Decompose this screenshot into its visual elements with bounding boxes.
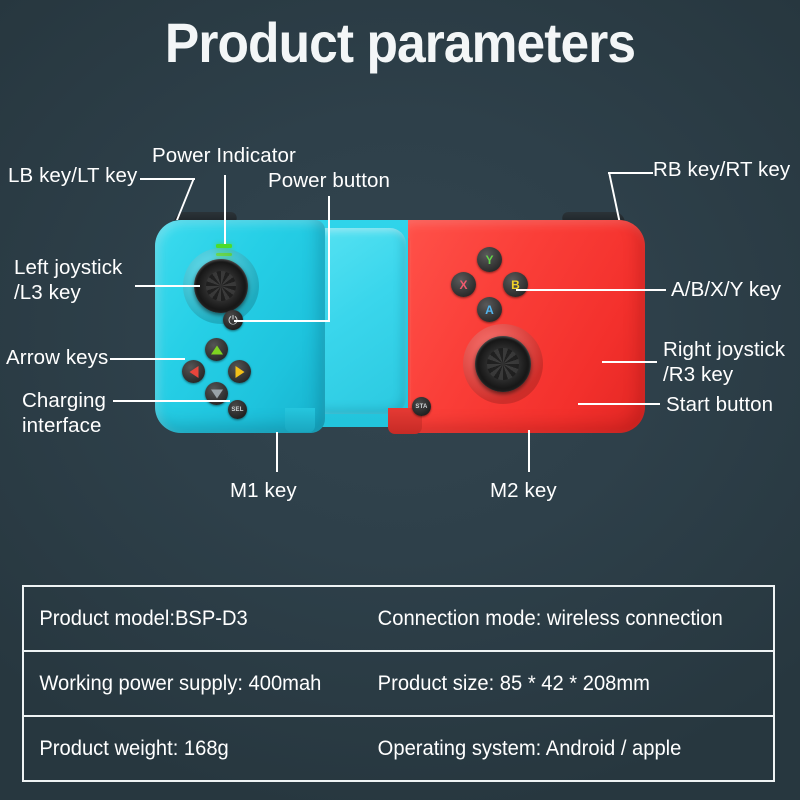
label-charging-2: interface xyxy=(22,413,102,438)
label-left-joystick-1: Left joystick xyxy=(14,255,122,280)
label-charging-1: Charging xyxy=(22,388,106,413)
leader-abxy xyxy=(516,289,666,291)
label-rb-rt: RB key/RT key xyxy=(653,157,790,182)
label-power-indicator: Power Indicator xyxy=(152,143,296,168)
table-row: Product model:BSP-D3 Connection mode: wi… xyxy=(24,587,773,652)
leader-arrow-keys xyxy=(110,358,185,360)
label-m2-key: M2 key xyxy=(490,478,557,503)
dpad-right-key[interactable] xyxy=(228,360,251,383)
leader-m1-key xyxy=(276,432,278,472)
right-grip-red xyxy=(400,220,645,433)
a-button[interactable]: A xyxy=(477,297,502,322)
label-abxy: A/B/X/Y key xyxy=(671,277,781,302)
leader-power-button-h xyxy=(234,320,330,322)
leader-left-joystick xyxy=(135,285,200,287)
select-key[interactable]: SEL xyxy=(228,400,247,419)
leader-m2-key xyxy=(528,430,530,472)
leader-power-button-v xyxy=(328,196,330,321)
spec-cell-product-weight: Product weight: 168g xyxy=(24,737,356,761)
label-lb-lt: LB key/LT key xyxy=(8,163,137,188)
spec-cell-connection-mode: Connection mode: wireless connection xyxy=(370,607,757,631)
right-joystick[interactable] xyxy=(475,336,531,392)
leader-rb-rt-h xyxy=(608,172,653,174)
spec-cell-power-supply: Working power supply: 400mah xyxy=(24,672,356,696)
spec-cell-product-size: Product size: 85 * 42 * 208mm xyxy=(370,672,757,696)
label-right-joystick-2: /R3 key xyxy=(663,362,733,387)
label-right-joystick-1: Right joystick xyxy=(663,337,785,362)
leader-lb-lt-h xyxy=(140,178,195,180)
led-bar-1 xyxy=(216,244,232,248)
label-arrow-keys: Arrow keys xyxy=(6,345,108,370)
y-button[interactable]: Y xyxy=(477,247,502,272)
dpad-up-key[interactable] xyxy=(205,338,228,361)
label-left-joystick-2: /L3 key xyxy=(14,280,81,305)
gamepad-illustration: ⏻ SEL Y X B A STA xyxy=(150,212,650,437)
leader-right-joystick xyxy=(602,361,657,363)
spec-table: Product model:BSP-D3 Connection mode: wi… xyxy=(22,585,775,782)
spec-cell-operating-system: Operating system: Android / apple xyxy=(370,737,757,761)
label-m1-key: M1 key xyxy=(230,478,297,503)
spec-cell-product-model: Product model:BSP-D3 xyxy=(24,607,356,631)
b-button[interactable]: B xyxy=(503,272,528,297)
page-title: Product parameters xyxy=(32,10,768,75)
dpad-left-key[interactable] xyxy=(182,360,205,383)
table-row: Working power supply: 400mah Product siz… xyxy=(24,652,773,717)
label-start-button: Start button xyxy=(666,392,773,417)
start-key[interactable]: STA xyxy=(412,397,431,416)
table-row: Product weight: 168g Operating system: A… xyxy=(24,717,773,782)
leader-power-indicator xyxy=(224,175,226,244)
leader-start-button xyxy=(578,403,660,405)
label-power-button: Power button xyxy=(268,168,390,193)
left-joystick[interactable] xyxy=(194,259,248,313)
leader-charging-interface xyxy=(113,400,230,402)
infographic-canvas: Product parameters ⏻ SEL Y X xyxy=(0,0,800,800)
m1-key[interactable] xyxy=(285,408,315,432)
x-button[interactable]: X xyxy=(451,272,476,297)
